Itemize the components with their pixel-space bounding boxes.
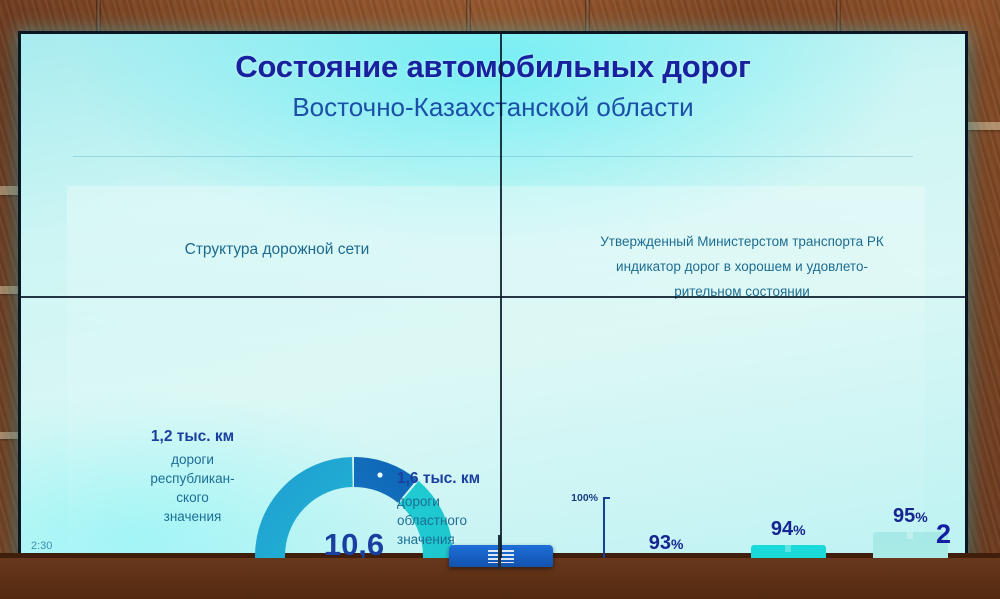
wood-seam — [466, 0, 471, 32]
wood-seam — [96, 0, 101, 32]
chart-plot-area: 93% 94% 95% — [605, 498, 968, 561]
right-heading-line-3: рительном состоянии — [517, 280, 967, 305]
title-divider — [73, 156, 913, 157]
bar-label-2025: 94% — [771, 518, 806, 541]
callout-oblast-roads: 1,6 тыс. км дорогиобластногозначения — [397, 468, 527, 549]
left-column-heading: Структура дорожной сети — [77, 238, 477, 262]
callout-republic-value: 1,2 тыс. км — [115, 426, 270, 448]
slide-page-number: 2 — [936, 519, 951, 550]
page-title: Состояние автомобильных дорог — [21, 50, 965, 84]
bar-group-2025[interactable]: 94% — [751, 498, 826, 561]
callout-oblast-value: 1,6 тыс. км — [397, 468, 527, 490]
title-block: Состояние автомобильных дорог Восточно-К… — [21, 50, 965, 122]
wood-panel-gap — [968, 122, 1000, 130]
bar-label-2026: 95% — [893, 505, 928, 528]
callout-republic-roads: 1,2 тыс. км дорогиреспубликан-скогозначе… — [115, 426, 270, 527]
right-heading-line-2: индикатор дорог в хорошем и удовлето- — [517, 255, 967, 280]
room-scene: Состояние автомобильных дорог Восточно-К… — [0, 0, 1000, 599]
monitor-vents-icon — [488, 550, 514, 563]
video-wall-display[interactable]: Состояние автомобильных дорог Восточно-К… — [18, 31, 968, 561]
bar-label-2024: 93% — [649, 532, 684, 555]
presentation-slide: Состояние автомобильных дорог Восточно-К… — [21, 34, 965, 558]
bar-group-2024[interactable]: 93% — [629, 498, 704, 561]
callout-oblast-label: дорогиобластногозначения — [397, 494, 467, 547]
wood-panel-gap — [0, 186, 18, 195]
y-tick-label-100: 100% — [571, 492, 598, 504]
donut-total-value: 10,6 — [324, 529, 384, 560]
microphone-stand — [498, 535, 501, 569]
callout-republic-label: дорогиреспубликан-скогозначения — [150, 452, 234, 524]
timecode-overlay: 2:30 — [31, 540, 52, 552]
desk-monitor-rear — [449, 545, 553, 567]
right-heading-line-1: Утвержденный Министерстом транспорта РК — [517, 230, 967, 255]
content-band: Структура дорожной сети Утвержденный Мин… — [67, 186, 925, 552]
wood-seam — [585, 0, 590, 32]
wood-seam — [836, 0, 841, 32]
wood-panel-gap — [0, 286, 18, 294]
road-condition-bar-chart[interactable]: 100% 90% 93% 94% — [565, 486, 968, 561]
wood-panel-gap — [0, 432, 18, 439]
page-subtitle: Восточно-Казахстанской области — [21, 93, 965, 122]
right-column-heading: Утвержденный Министерстом транспорта РК … — [517, 230, 967, 305]
